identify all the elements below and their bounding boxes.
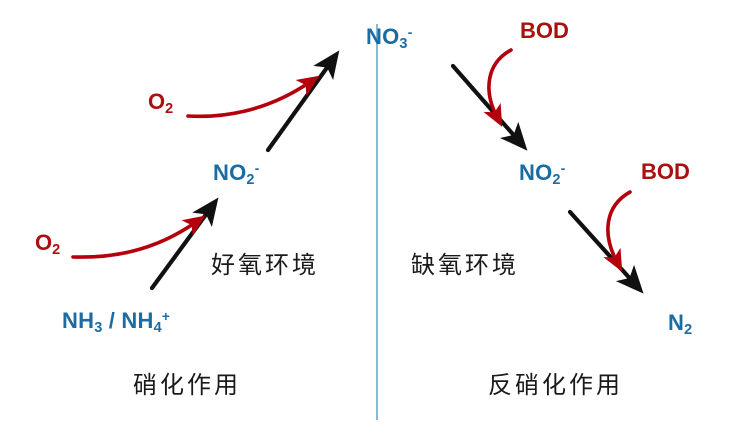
arrow-ammonia-to-nitrite — [152, 209, 210, 288]
arrow-nitrate-to-nitrite — [453, 66, 518, 140]
diagram-vector-layer — [0, 0, 750, 433]
reagent-oxygen-upper: O2 — [148, 91, 173, 117]
process-label-denitrification: 反硝化作用 — [488, 373, 623, 397]
arrow-nitrite-to-nitrate — [268, 62, 331, 150]
reagent-oxygen-lower: O2 — [35, 232, 60, 258]
environment-label-aerobic: 好氧环境 — [211, 253, 319, 277]
curve-bod-lower — [608, 192, 630, 262]
species-nitrite-right: NO2- — [519, 162, 565, 188]
diagram-canvas: NO3- NO2- NH3 / NH4+ NO2- N2 O2 O2 BOD B… — [0, 0, 750, 433]
species-ammonia: NH3 / NH4+ — [62, 310, 170, 336]
reagent-bod-lower: BOD — [641, 161, 690, 183]
environment-label-anoxic: 缺氧环境 — [411, 253, 519, 277]
curve-bod-upper — [489, 50, 511, 117]
species-nitrogen: N2 — [668, 312, 692, 338]
curve-oxygen-upper — [188, 82, 310, 116]
arrow-nitrite-to-nitrogen — [570, 212, 634, 283]
species-nitrite-left: NO2- — [213, 162, 259, 188]
process-label-nitrification: 硝化作用 — [133, 373, 241, 397]
species-nitrate: NO3- — [366, 26, 412, 52]
reagent-bod-upper: BOD — [520, 20, 569, 42]
